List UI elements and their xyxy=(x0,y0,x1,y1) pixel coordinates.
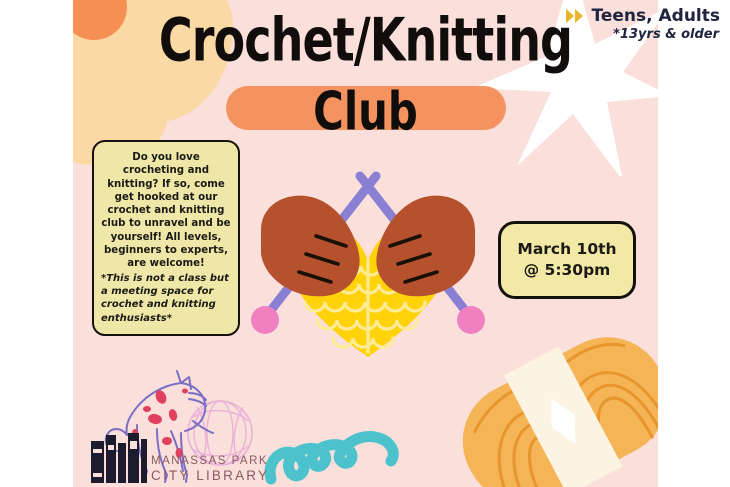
description-card: Do you love crocheting and knitting? If … xyxy=(92,140,240,336)
teal-ribbon-decor xyxy=(263,417,403,487)
title-line-2: Club xyxy=(88,84,644,142)
poster-root: Crochet/Knitting Club Do you love croche… xyxy=(0,0,730,487)
audience-tag: Teens, Adults *13yrs & older xyxy=(564,6,721,42)
logo-text-line-2: CITY LIBRARY xyxy=(151,468,269,483)
description-note: *This is not a class but a meeting space… xyxy=(101,272,231,326)
logo-text-line-1: MANASSAS PARK xyxy=(151,455,268,467)
event-time: @ 5:30pm xyxy=(524,260,611,281)
logo-cat-spots xyxy=(132,389,188,459)
event-date-card: March 10th @ 5:30pm xyxy=(498,221,636,299)
logo-books-icon xyxy=(91,433,147,483)
double-chevron-right-icon xyxy=(564,6,588,26)
audience-sub-label: *13yrs & older xyxy=(564,27,720,42)
event-date: March 10th xyxy=(517,239,616,260)
audience-main-label: Teens, Adults xyxy=(592,6,721,26)
poster-canvas: Crochet/Knitting Club Do you love croche… xyxy=(73,0,658,487)
title-line-1: Crochet/Knitting xyxy=(91,8,641,74)
description-body: Do you love crocheting and knitting? If … xyxy=(101,151,231,271)
manassas-park-city-library-logo: MANASSAS PARK CITY LIBRARY xyxy=(85,363,270,485)
yarn-skein-icon xyxy=(450,328,658,487)
